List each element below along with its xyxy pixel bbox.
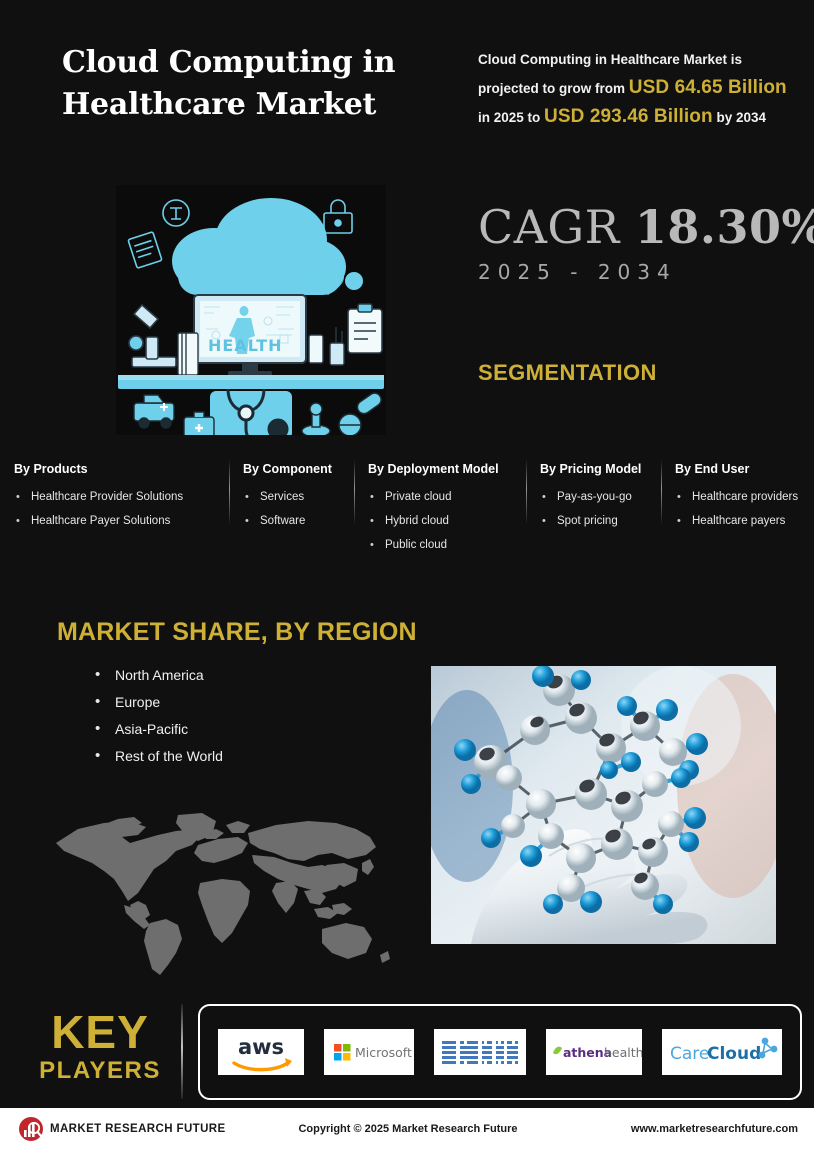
market-share-heading: MARKET SHARE, BY REGION [57, 618, 417, 647]
logo-ibm [434, 1029, 526, 1075]
footer-website-url[interactable]: www.marketresearchfuture.com [568, 1123, 798, 1135]
segment-item: Services [243, 485, 344, 509]
key-players-logo-box: aws Microsoft [198, 1004, 802, 1100]
market-research-future-logo-icon [18, 1116, 44, 1142]
logo-microsoft: Microsoft [324, 1029, 414, 1075]
svg-text:aws: aws [238, 1035, 284, 1059]
segment-item: Software [243, 509, 344, 533]
infographic-page: Cloud Computing in Healthcare Market Clo… [0, 0, 814, 1150]
segmentation-column-by-deployment-model: By Deployment Model Private cloud Hybrid… [354, 462, 526, 557]
segment-list: Pay-as-you-go Spot pricing [540, 485, 651, 533]
segmentation-columns: By Products Healthcare Provider Solution… [14, 462, 804, 557]
svg-text:HEALTH: HEALTH [208, 336, 283, 355]
microsoft-logo-icon: Microsoft [324, 1029, 414, 1075]
logo-aws: aws [218, 1029, 304, 1075]
segmentation-column-by-pricing-model: By Pricing Model Pay-as-you-go Spot pric… [526, 462, 661, 533]
projection-part-3: by 2034 [716, 110, 766, 125]
footer-brand-text: MARKET RESEARCH FUTURE [50, 1123, 226, 1135]
segment-list: Healthcare Provider Solutions Healthcare… [14, 485, 219, 533]
segment-title: By Pricing Model [540, 462, 651, 476]
key-players-divider [181, 1004, 183, 1099]
molecule-photo [431, 666, 776, 944]
cagr-block: CAGR 18.30% 2025 - 2034 [478, 200, 808, 284]
segment-item: Healthcare payers [675, 509, 791, 533]
segment-item: Hybrid cloud [368, 509, 516, 533]
segmentation-column-by-end-user: By End User Healthcare providers Healthc… [661, 462, 801, 533]
footer-bar: MARKET RESEARCH FUTURE Copyright © 2025 … [0, 1108, 814, 1150]
segmentation-column-by-component: By Component Services Software [229, 462, 354, 533]
segment-item: Healthcare Provider Solutions [14, 485, 219, 509]
projection-value-2025: USD 64.65 Billion [629, 77, 787, 98]
segmentation-heading: SEGMENTATION [478, 360, 657, 386]
cagr-year-range: 2025 - 2034 [478, 260, 808, 284]
key-players-label: KEY PLAYERS [30, 1008, 170, 1086]
page-title: Cloud Computing in Healthcare Market [62, 42, 442, 126]
region-item: Europe [93, 689, 223, 716]
segment-item: Public cloud [368, 533, 516, 557]
region-item: Rest of the World [93, 743, 223, 770]
carecloud-logo-icon: Care Cloud [662, 1029, 782, 1075]
key-players-line2: PLAYERS [30, 1056, 170, 1086]
segment-title: By Products [14, 462, 219, 476]
segment-item: Healthcare Payer Solutions [14, 509, 219, 533]
segment-item: Spot pricing [540, 509, 651, 533]
cagr-label: CAGR [478, 200, 620, 254]
segment-title: By Deployment Model [368, 462, 516, 476]
segment-item: Healthcare providers [675, 485, 791, 509]
cloud-healthcare-illustration: HEALTH [116, 185, 386, 435]
svg-text:Microsoft: Microsoft [355, 1045, 412, 1060]
market-share-region-list: North America Europe Asia-Pacific Rest o… [93, 662, 223, 770]
athenahealth-logo-icon: athena health [546, 1029, 642, 1075]
svg-text:Cloud: Cloud [707, 1044, 761, 1064]
aws-logo-icon: aws [218, 1029, 304, 1075]
logo-carecloud: Care Cloud [662, 1029, 782, 1075]
key-players-line1: KEY [30, 1008, 170, 1056]
region-item: North America [93, 662, 223, 689]
svg-text:health: health [604, 1045, 642, 1060]
region-item: Asia-Pacific [93, 716, 223, 743]
segment-list: Private cloud Hybrid cloud Public cloud [368, 485, 516, 557]
segment-title: By Component [243, 462, 344, 476]
market-projection-text: Cloud Computing in Healthcare Market is … [478, 46, 800, 132]
ibm-logo-icon [434, 1029, 526, 1075]
segment-item: Private cloud [368, 485, 516, 509]
cagr-value: 18.30% [635, 200, 814, 254]
hero-illustration: HEALTH [116, 185, 386, 435]
world-map-silhouette [26, 805, 406, 980]
segment-list: Healthcare providers Healthcare payers [675, 485, 791, 533]
segmentation-column-by-products: By Products Healthcare Provider Solution… [14, 462, 229, 533]
segment-list: Services Software [243, 485, 344, 533]
world-map [26, 805, 406, 980]
cagr-line: CAGR 18.30% [478, 200, 808, 254]
footer-brand: MARKET RESEARCH FUTURE [18, 1116, 248, 1142]
footer-copyright: Copyright © 2025 Market Research Future [248, 1123, 568, 1135]
molecule-illustration [431, 666, 776, 944]
segment-title: By End User [675, 462, 791, 476]
segment-item: Pay-as-you-go [540, 485, 651, 509]
projection-part-2: in 2025 to [478, 110, 540, 125]
projection-value-2034: USD 293.46 Billion [544, 106, 713, 127]
svg-text:Care: Care [670, 1044, 709, 1064]
logo-athenahealth: athena health [546, 1029, 642, 1075]
